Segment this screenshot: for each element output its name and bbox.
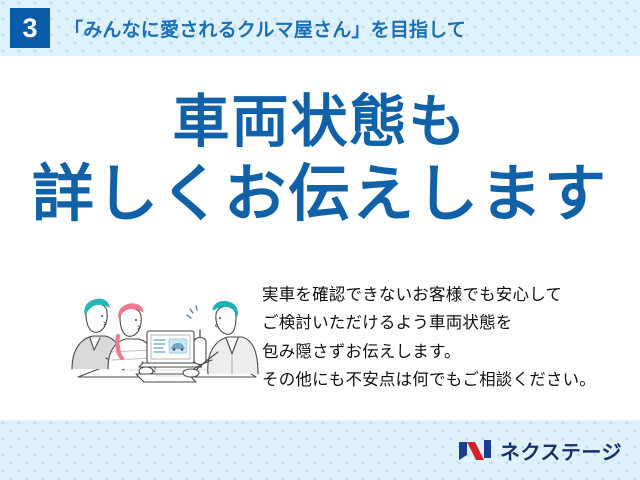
body-copy: 実車を確認できないお客様でも安心して ご検討いただけるよう車両状態を 包み隠さず… bbox=[262, 281, 622, 395]
footer-band: ネクステージ bbox=[0, 420, 640, 480]
headline-line-2: 詳しくお伝えします bbox=[0, 162, 640, 229]
headline: 車両状態も 詳しくお伝えします bbox=[0, 92, 640, 229]
body-copy-line-1: 実車を確認できないお客様でも安心して bbox=[262, 281, 622, 309]
body-copy-line-2: ご検討いただけるよう車両状態を bbox=[262, 309, 622, 337]
section-number-badge: 3 bbox=[10, 8, 50, 48]
header-band: 3 「みんなに愛されるクルマ屋さん」を目指して bbox=[0, 0, 640, 56]
body-copy-line-4: その他にも不安点は何でもご相談ください。 bbox=[262, 366, 622, 394]
body-copy-line-3: 包み隠さずお伝えします。 bbox=[262, 338, 622, 366]
header-title: 「みんなに愛されるクルマ屋さん」を目指して bbox=[64, 15, 466, 42]
nextage-n-logo-icon bbox=[457, 438, 493, 462]
laptop-prop bbox=[139, 331, 202, 367]
headline-line-1: 車両状態も bbox=[0, 92, 640, 154]
consultation-illustration bbox=[60, 274, 260, 399]
speech-sparkle bbox=[187, 306, 197, 318]
brand-logo: ネクステージ bbox=[457, 436, 622, 465]
main-content: 車両状態も 詳しくお伝えします bbox=[0, 56, 640, 420]
brand-name: ネクステージ bbox=[500, 436, 622, 465]
advertisement-banner: 3 「みんなに愛されるクルマ屋さん」を目指して 車両状態も 詳しくお伝えします bbox=[0, 0, 640, 480]
illustration-svg bbox=[60, 274, 260, 399]
